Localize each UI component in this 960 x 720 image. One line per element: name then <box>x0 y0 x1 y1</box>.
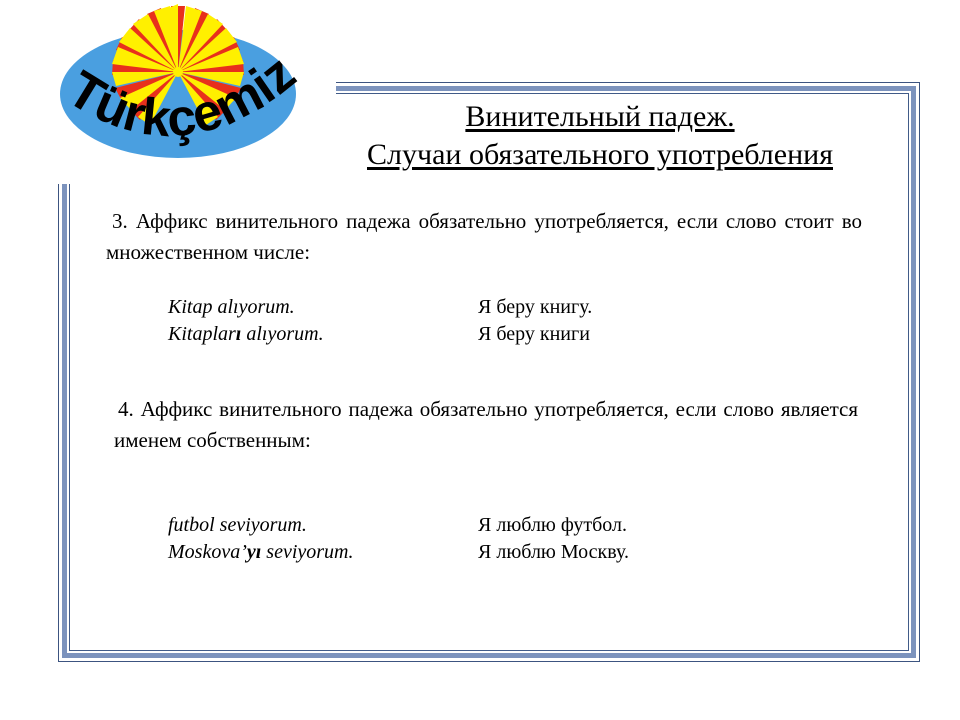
example-turkish-stem: futbol seviyorum. <box>168 514 307 536</box>
example-turkish-stem: Kitap alıyorum. <box>168 296 295 318</box>
spacer <box>96 348 858 394</box>
rule-paragraph-4: 4. Аффикс винительного падежа обязательн… <box>96 394 858 456</box>
example-russian: Я беру книгу. <box>478 294 592 321</box>
example-turkish-tail: seviyorum. <box>261 541 353 563</box>
spacer <box>96 268 858 294</box>
example-russian: Я беру книги <box>478 321 592 348</box>
slide-body: 3. Аффикс винительного падежа обязательн… <box>96 206 858 566</box>
spacer <box>96 456 858 512</box>
example-row: Moskova’yı seviyorum. Я люблю Москву. <box>168 539 629 566</box>
example-turkish-stem: Kitaplar <box>168 323 236 345</box>
example-turkish-tail: alıyorum. <box>241 323 323 345</box>
example-turkish: Moskova’yı seviyorum. <box>168 539 478 566</box>
example-row: Kitap alıyorum. Я беру книгу. <box>168 294 592 321</box>
example-turkish: Kitap alıyorum. <box>168 294 478 321</box>
examples-group-1: Kitap alıyorum. Я беру книгу. Kitapları … <box>96 294 858 348</box>
title-line-2: Случаи обязательного употребления <box>300 136 900 174</box>
examples-table-1: Kitap alıyorum. Я беру книгу. Kitapları … <box>168 294 592 348</box>
example-turkish: futbol seviyorum. <box>168 512 478 539</box>
examples-group-2: futbol seviyorum. Я люблю футбол. Moskov… <box>96 512 858 566</box>
example-russian: Я люблю футбол. <box>478 512 629 539</box>
title-line-1: Винительный падеж. <box>300 98 900 136</box>
turkcemiz-logo: Türkçemiz <box>52 4 304 182</box>
slide-title: Винительный падеж. Случаи обязательного … <box>300 98 900 174</box>
example-row: Kitapları alıyorum. Я беру книги <box>168 321 592 348</box>
rule-paragraph-3: 3. Аффикс винительного падежа обязательн… <box>96 206 862 268</box>
slide-canvas: Türkçemiz Винительный падеж. Случаи обяз… <box>0 0 960 720</box>
examples-table-2: futbol seviyorum. Я люблю футбол. Moskov… <box>168 512 629 566</box>
example-turkish-stem: Moskova’ <box>168 541 247 563</box>
example-turkish: Kitapları alıyorum. <box>168 321 478 348</box>
example-turkish-affix: yı <box>247 541 261 563</box>
example-row: futbol seviyorum. Я люблю футбол. <box>168 512 629 539</box>
example-russian: Я люблю Москву. <box>478 539 629 566</box>
